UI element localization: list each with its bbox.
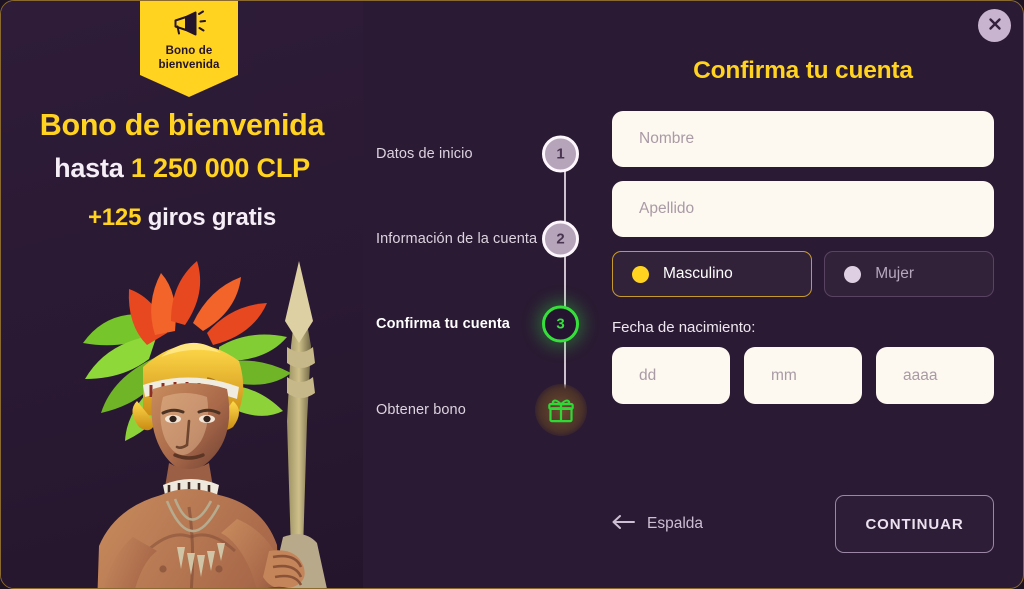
registration-modal: Bono de bienvenida Bono de bienvenida ha… xyxy=(0,0,1024,589)
continue-button[interactable]: CONTINUAR xyxy=(835,495,994,553)
first-name-input[interactable] xyxy=(612,111,994,167)
radio-dot-unselected-icon xyxy=(844,266,861,283)
gender-option-female[interactable]: Mujer xyxy=(824,251,994,297)
stepper-step-2-badge: 2 xyxy=(542,221,579,258)
last-name-input[interactable] xyxy=(612,181,994,237)
aztec-warrior-illustration xyxy=(11,251,361,589)
dob-day-input[interactable] xyxy=(612,347,730,404)
welcome-bonus-ribbon: Bono de bienvenida xyxy=(140,0,238,97)
close-button[interactable] xyxy=(978,9,1011,42)
stepper-step-3-badge: 3 xyxy=(542,306,579,343)
confirm-account-form: Confirma tu cuenta Masculino Mujer Fecha… xyxy=(612,57,994,404)
form-actions: Espalda CONTINUAR xyxy=(612,495,994,553)
promo-spins-number: +125 xyxy=(88,204,141,231)
close-icon xyxy=(987,16,1003,35)
gender-option-female-label: Mujer xyxy=(875,265,914,283)
promo-sub-prefix: hasta xyxy=(54,153,131,183)
stepper-step-4[interactable]: Obtener bono xyxy=(376,389,591,431)
promo-spins-text: giros gratis xyxy=(141,204,276,231)
gender-option-male[interactable]: Masculino xyxy=(612,251,812,297)
gender-option-male-label: Masculino xyxy=(663,265,733,283)
date-of-birth-row xyxy=(612,347,994,404)
gender-radio-group: Masculino Mujer xyxy=(612,251,994,297)
arrow-left-icon xyxy=(612,515,636,534)
promo-subtitle: hasta 1 250 000 CLP xyxy=(1,153,363,184)
promo-free-spins: +125 giros gratis xyxy=(1,204,363,232)
back-button-label: Espalda xyxy=(647,515,703,533)
dob-year-input[interactable] xyxy=(876,347,994,404)
dob-month-input[interactable] xyxy=(744,347,862,404)
ribbon-line-1: Bono de xyxy=(140,45,238,59)
registration-stepper: Datos de inicio 1 Información de la cuen… xyxy=(376,121,591,441)
megaphone-icon xyxy=(140,10,238,41)
back-button[interactable]: Espalda xyxy=(612,515,703,534)
form-title: Confirma tu cuenta xyxy=(612,57,994,85)
promo-amount: 1 250 000 CLP xyxy=(131,153,310,183)
stepper-step-1-badge: 1 xyxy=(542,136,579,173)
stepper-step-3[interactable]: Confirma tu cuenta 3 xyxy=(376,303,591,345)
stepper-step-1[interactable]: Datos de inicio 1 xyxy=(376,133,591,175)
promo-panel: Bono de bienvenida Bono de bienvenida ha… xyxy=(1,1,363,589)
radio-dot-selected-icon xyxy=(632,266,649,283)
date-of-birth-label: Fecha de nacimiento: xyxy=(612,319,994,336)
promo-title: Bono de bienvenida xyxy=(1,108,363,143)
gift-icon xyxy=(535,384,587,436)
ribbon-line-2: bienvenida xyxy=(140,59,238,73)
stepper-step-2[interactable]: Información de la cuenta 2 xyxy=(376,218,591,260)
